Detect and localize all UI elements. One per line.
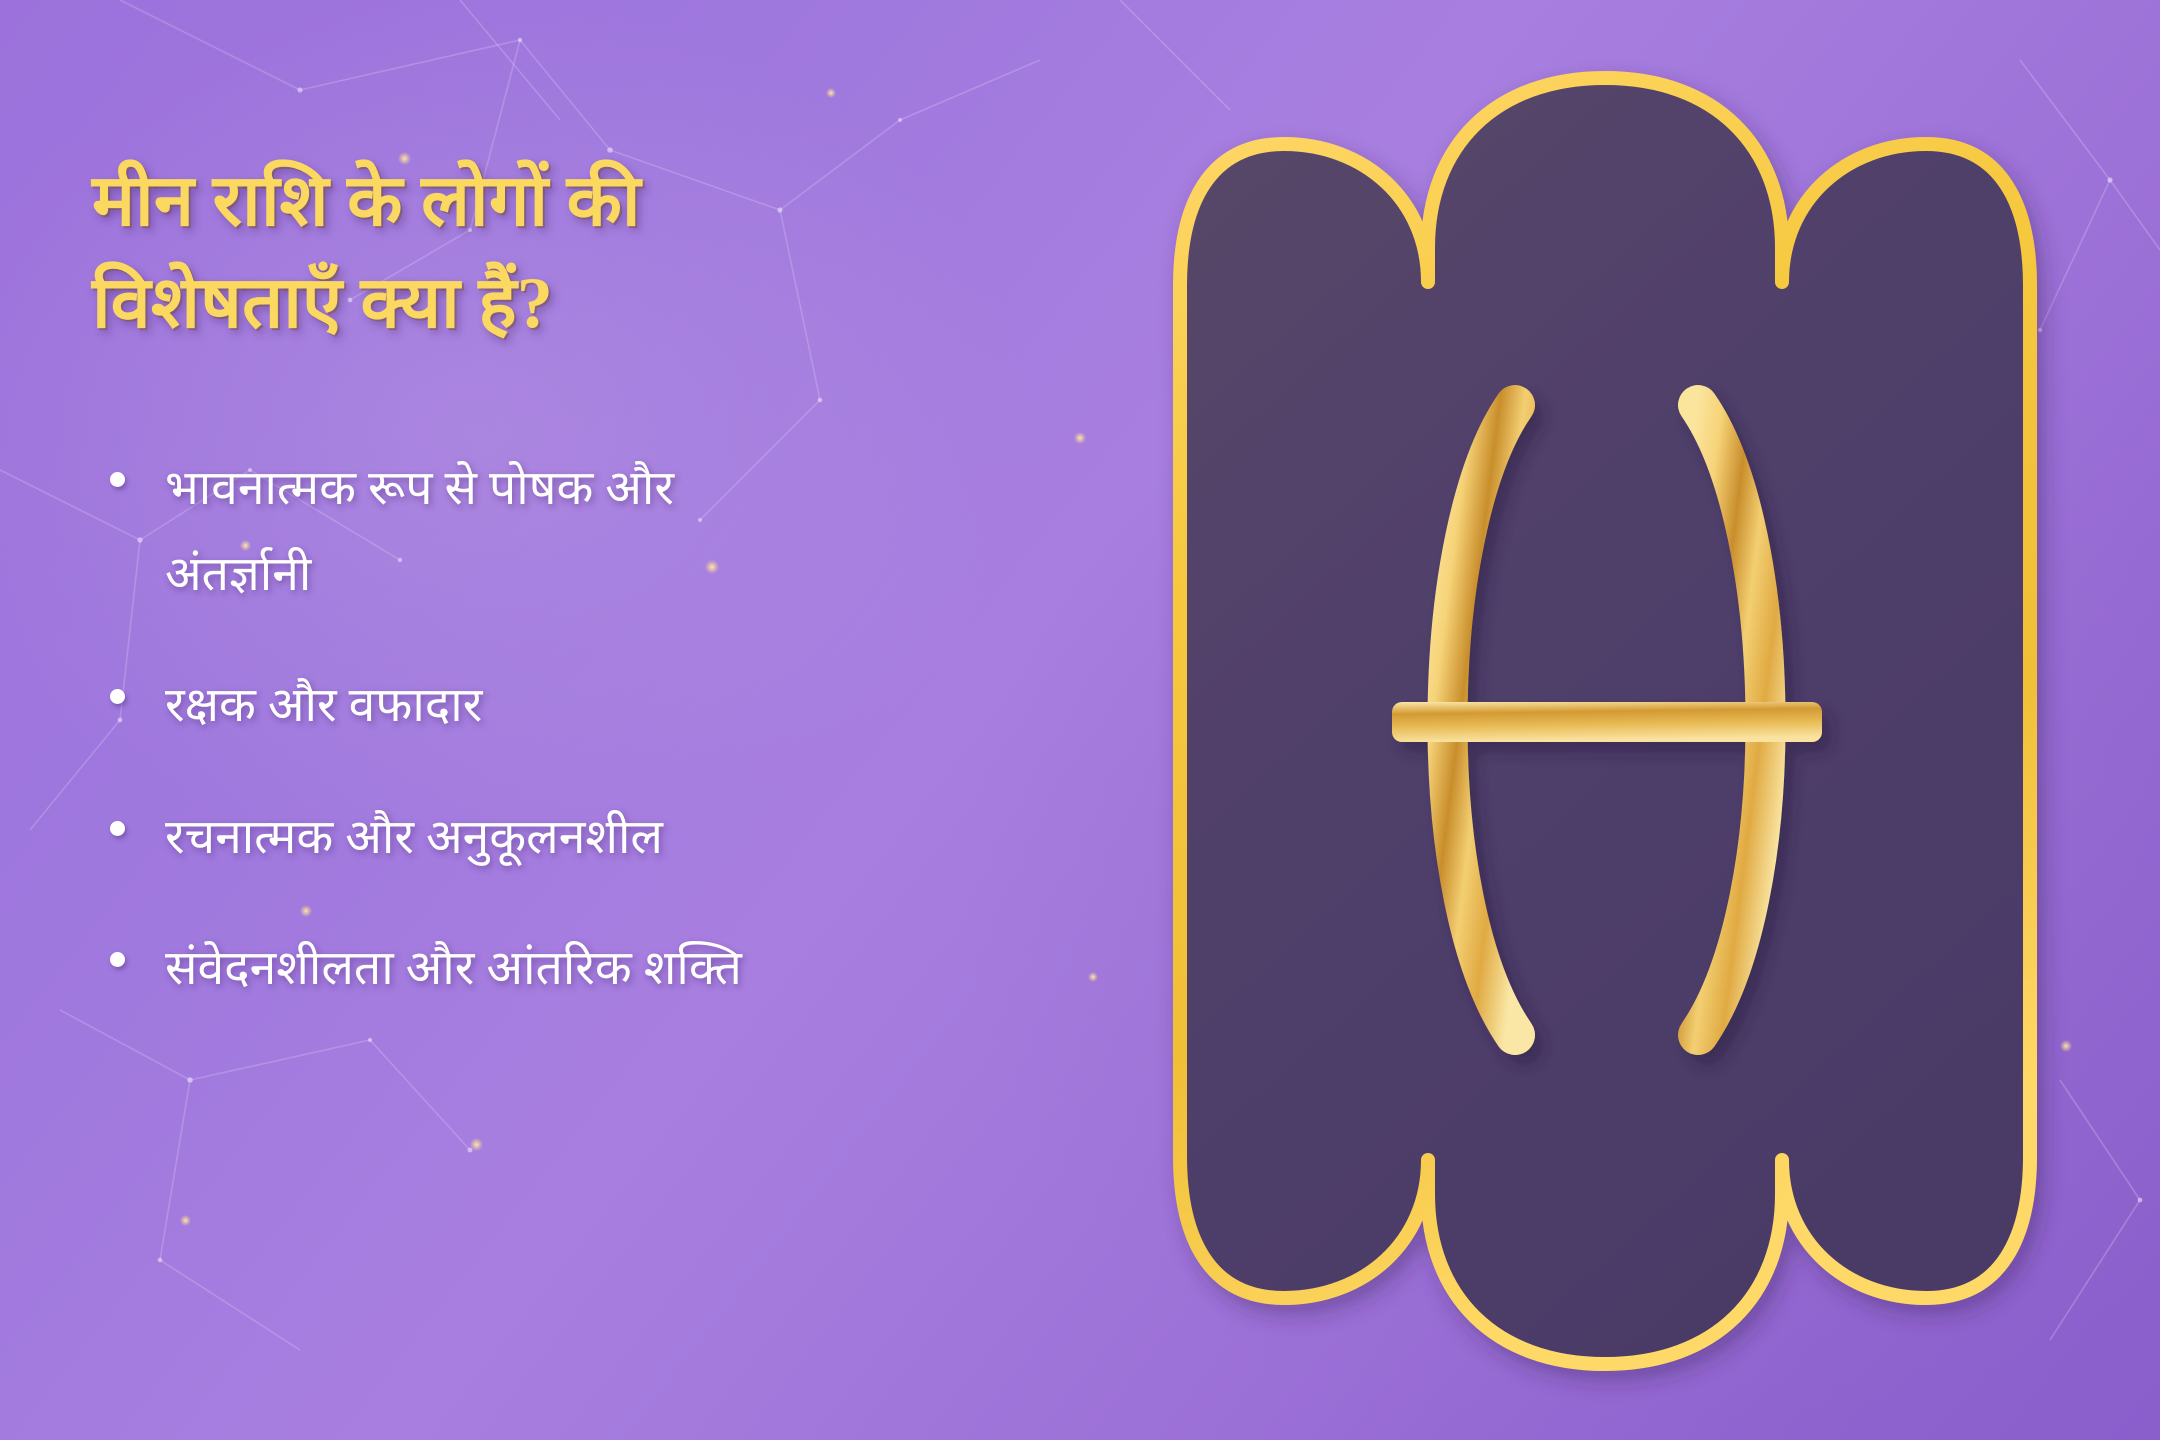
list-item: संवेदनशीलता और आंतरिक शक्ति [92,926,1112,1011]
bullet-dot-icon [110,952,125,967]
bullet-dot-icon [110,821,125,836]
list-item: रक्षक और वफादार [92,663,1112,748]
list-item: भावनात्मक रूप से पोषक और अंतर्ज्ञानी [92,446,1112,617]
bullet-dot-icon [110,472,125,487]
text-column: मीन राशि के लोगों की विशेषताएँ क्या हैं?… [92,150,1112,1058]
trait-label: भावनात्मक रूप से पोषक और अंतर्ज्ञानी [165,446,785,617]
zodiac-poster: मीन राशि के लोगों की विशेषताएँ क्या हैं?… [0,0,2160,1440]
bullet-dot-icon [110,689,125,704]
page-title: मीन राशि के लोगों की विशेषताएँ क्या हैं? [92,150,882,354]
list-item: रचनात्मक और अनुकूलनशील [92,795,1112,880]
trait-label: रक्षक और वफादार [165,663,482,748]
sparkle-star [2060,1040,2072,1052]
sparkle-star [470,1138,483,1151]
traits-list: भावनात्मक रूप से पोषक और अंतर्ज्ञानी रक्… [92,446,1112,1011]
zodiac-card: मीन [1170,60,2040,1380]
sparkle-star [826,88,836,98]
trait-label: संवेदनशीलता और आंतरिक शक्ति [165,926,742,1011]
sparkle-star [180,1215,191,1226]
trait-label: रचनात्मक और अनुकूलनशील [165,795,663,880]
